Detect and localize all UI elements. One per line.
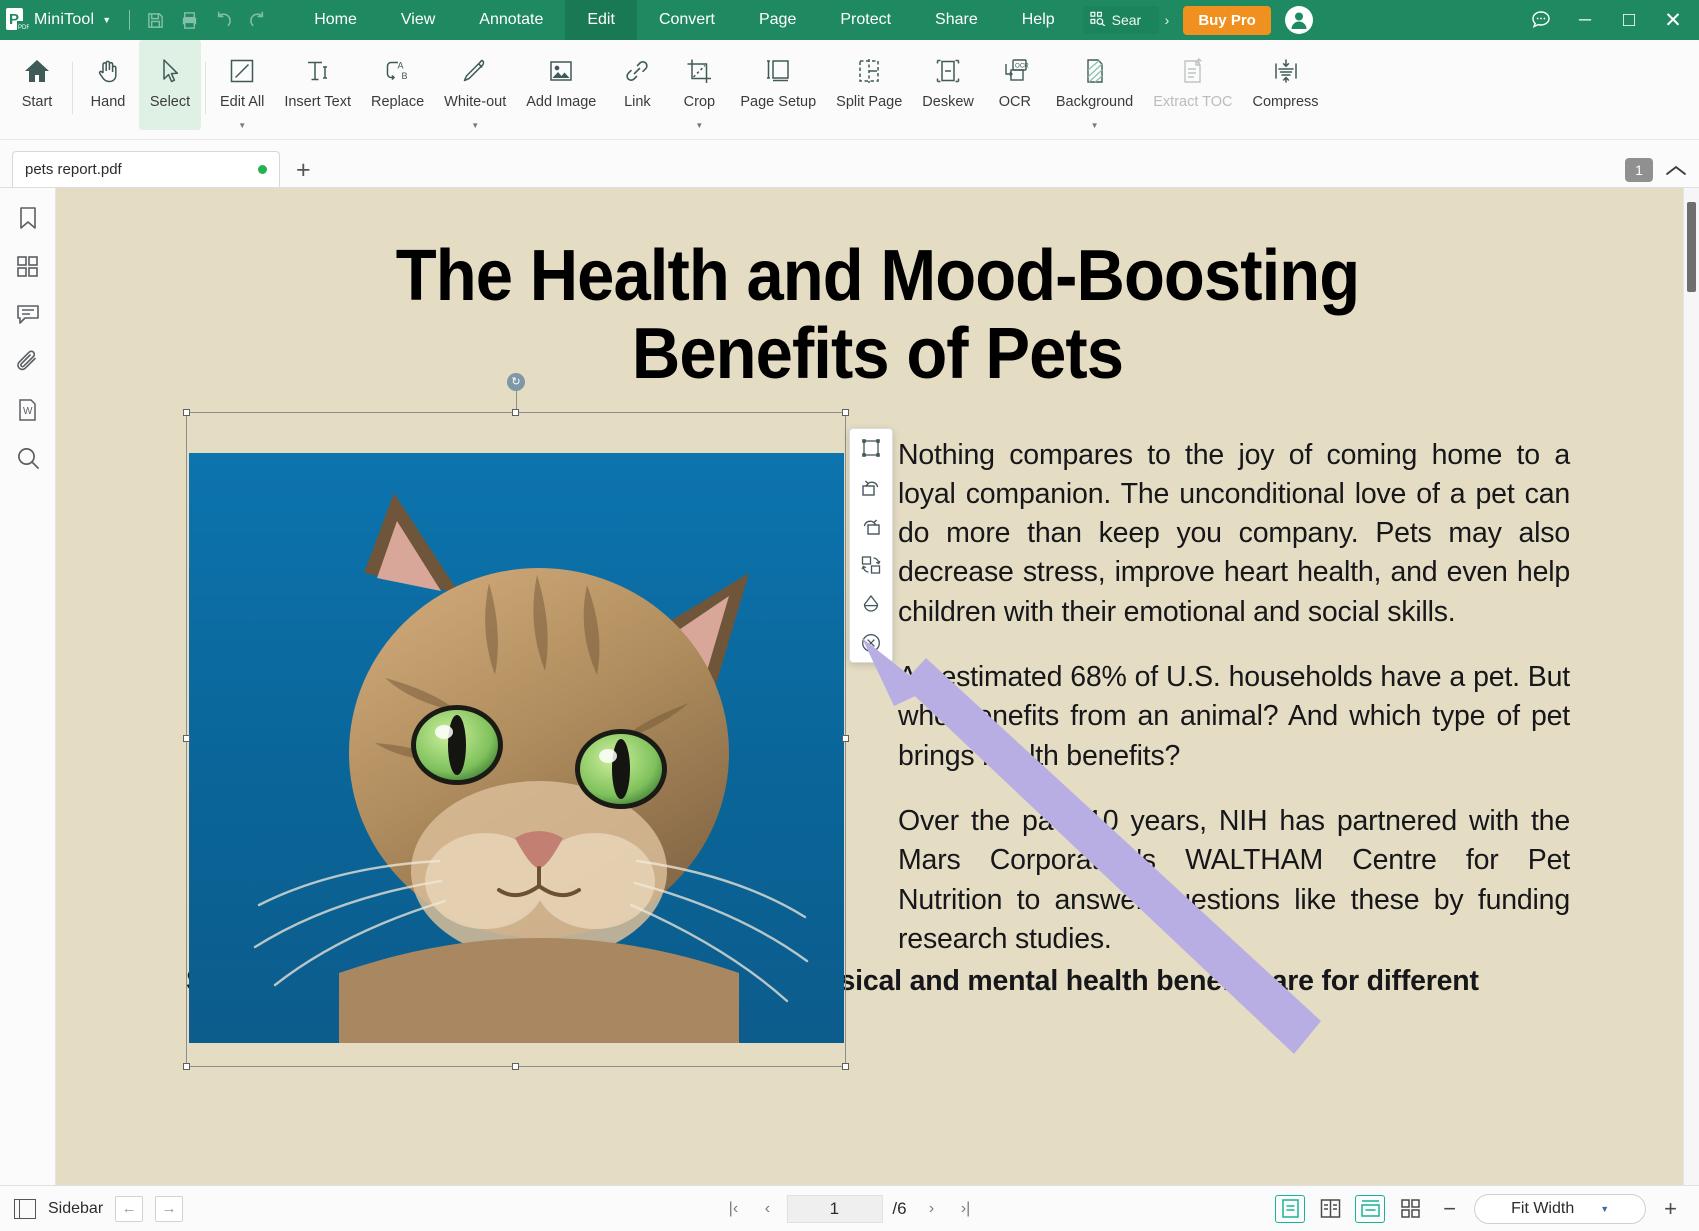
vertical-scrollbar[interactable] <box>1683 188 1699 1185</box>
page-setup-icon <box>763 52 793 90</box>
paragraph-2[interactable]: An estimated 68% of U.S. households have… <box>898 658 1570 776</box>
unsaved-indicator-icon <box>258 165 267 174</box>
grid-view-button[interactable] <box>1395 1195 1425 1223</box>
tool-start-label: Start <box>22 94 53 110</box>
ribbon-toolbar: Start Hand Select Edit All ▼ <box>0 40 1699 140</box>
svg-text:A: A <box>397 61 403 71</box>
nav-forward-button[interactable]: → <box>155 1196 183 1222</box>
app-logo-icon: P PDF <box>0 0 34 40</box>
chevron-down-icon[interactable]: ▼ <box>1600 1204 1609 1214</box>
pdf-viewport[interactable]: The Health and Mood-Boosting Benefits of… <box>56 188 1699 1185</box>
cat-photo[interactable] <box>189 453 844 1043</box>
left-rail: W <box>0 188 56 1185</box>
page-navigator: |‹ ‹ 1 /6 › ›| <box>718 1195 980 1223</box>
paragraph-3[interactable]: Over the past 10 years, NIH has partnere… <box>898 802 1570 959</box>
search-icon <box>1090 11 1107 29</box>
tool-select[interactable]: Select <box>139 40 201 130</box>
tool-white-out-label: White-out <box>444 94 506 110</box>
tool-compress-label: Compress <box>1252 94 1318 110</box>
resize-handle-ne[interactable] <box>842 409 849 416</box>
redo-icon[interactable] <box>240 0 274 40</box>
save-icon[interactable] <box>138 0 172 40</box>
zoom-out-button[interactable]: − <box>1435 1196 1464 1222</box>
tool-insert-text[interactable]: Insert Text <box>274 40 361 132</box>
first-page-button[interactable]: |‹ <box>718 1195 748 1223</box>
resize-handle-e[interactable] <box>842 735 849 742</box>
scrollbar-thumb[interactable] <box>1687 202 1696 292</box>
tool-ocr-label: OCR <box>999 94 1031 110</box>
tool-ocr[interactable]: OCR OCR <box>984 40 1046 132</box>
menu-item-page[interactable]: Page <box>737 0 818 40</box>
tool-replace[interactable]: A B Replace <box>361 40 434 132</box>
page-text-column[interactable]: Nothing compares to the joy of coming ho… <box>898 412 1570 960</box>
chevron-down-icon[interactable]: ▼ <box>1091 121 1099 130</box>
tool-add-image-label: Add Image <box>526 94 596 110</box>
single-page-view-button[interactable] <box>1275 1195 1305 1223</box>
insert-text-icon <box>303 52 333 90</box>
tool-background[interactable]: Background ▼ <box>1046 40 1143 132</box>
whiteout-icon <box>460 52 490 90</box>
total-pages-label: /6 <box>886 1199 912 1219</box>
image-context-toolbar <box>849 428 893 663</box>
svg-text:B: B <box>401 71 407 81</box>
tool-link[interactable]: Link <box>606 40 668 132</box>
document-tab-bar: pets report.pdf + 1 <box>0 140 1699 188</box>
link-icon <box>622 52 652 90</box>
opacity-icon[interactable] <box>856 591 886 617</box>
resize-handle-sw[interactable] <box>183 1063 190 1070</box>
resize-handle-s[interactable] <box>512 1063 519 1070</box>
page-number-input[interactable]: 1 <box>786 1195 882 1223</box>
undo-icon[interactable] <box>206 0 240 40</box>
hand-icon <box>93 52 123 90</box>
tool-crop[interactable]: Crop ▼ <box>668 40 730 132</box>
thumbnails-icon[interactable] <box>10 250 46 282</box>
replace-icon: A B <box>383 52 413 90</box>
edit-all-icon <box>227 52 257 90</box>
ocr-icon: OCR <box>1000 52 1030 90</box>
divider <box>129 10 130 30</box>
tool-background-label: Background <box>1056 94 1133 110</box>
status-bar: Sidebar ← → |‹ ‹ 1 /6 › ›| <box>0 1185 1699 1231</box>
sidebar-toggle-icon[interactable] <box>14 1199 36 1219</box>
main-menu: Home View Annotate Edit Convert Page Pro… <box>292 0 1076 40</box>
resize-handle-w[interactable] <box>183 735 190 742</box>
menu-item-view[interactable]: View <box>379 0 457 40</box>
status-bar-left: Sidebar ← → <box>14 1196 183 1222</box>
title-bar: P PDF MiniTool ▼ Home View Annotate Edit… <box>0 0 1699 40</box>
search-box[interactable]: Sear <box>1083 6 1159 34</box>
home-icon <box>22 52 52 90</box>
split-page-icon <box>854 52 884 90</box>
nav-back-button[interactable]: ← <box>115 1196 143 1222</box>
delete-icon[interactable] <box>856 630 886 656</box>
tool-hand[interactable]: Hand <box>77 40 139 132</box>
chevron-down-icon[interactable]: ▼ <box>471 121 479 130</box>
compress-icon <box>1271 52 1301 90</box>
tool-link-label: Link <box>624 94 651 110</box>
prev-page-button[interactable]: ‹ <box>752 1195 782 1223</box>
tool-deskew-label: Deskew <box>922 94 974 110</box>
tool-edit-all-label: Edit All <box>220 94 264 110</box>
tool-white-out[interactable]: White-out ▼ <box>434 40 516 132</box>
tool-split-page-label: Split Page <box>836 94 902 110</box>
word-icon[interactable]: W <box>10 394 46 426</box>
page-title[interactable]: The Health and Mood-Boosting Benefits of… <box>114 228 1642 394</box>
tool-split-page[interactable]: Split Page <box>826 40 912 132</box>
window-controls: ─ □ ✕ <box>1519 0 1699 40</box>
tab-bar-right-controls: 1 <box>1625 158 1687 182</box>
tool-deskew[interactable]: Deskew <box>912 40 984 132</box>
background-icon <box>1080 52 1110 90</box>
cursor-icon <box>155 52 185 90</box>
tool-hand-label: Hand <box>91 94 126 110</box>
menu-item-convert[interactable]: Convert <box>637 0 737 40</box>
tool-crop-label: Crop <box>684 94 715 110</box>
extract-toc-icon <box>1178 52 1208 90</box>
tool-replace-label: Replace <box>371 94 424 110</box>
tool-extract-toc[interactable]: Extract TOC <box>1143 40 1242 132</box>
chevron-down-icon[interactable]: ▼ <box>695 121 703 130</box>
menu-item-share[interactable]: Share <box>913 0 1000 40</box>
rotate-left-icon[interactable] <box>856 474 886 500</box>
attachment-icon[interactable] <box>10 346 46 378</box>
tool-page-setup[interactable]: Page Setup <box>730 40 826 132</box>
zoom-level-select[interactable]: Fit Width ▼ <box>1474 1194 1646 1224</box>
resize-handle-nw[interactable] <box>183 409 190 416</box>
zoom-in-button[interactable]: + <box>1656 1196 1685 1222</box>
page-count-badge[interactable]: 1 <box>1625 158 1653 182</box>
tool-extract-toc-label: Extract TOC <box>1153 94 1232 110</box>
divider <box>72 62 73 114</box>
deskew-icon <box>933 52 963 90</box>
add-image-icon <box>546 52 576 90</box>
resize-handle-n[interactable] <box>512 409 519 416</box>
menu-item-home[interactable]: Home <box>292 0 379 40</box>
tool-page-setup-label: Page Setup <box>740 94 816 110</box>
rotate-right-icon[interactable] <box>856 513 886 539</box>
tool-insert-text-label: Insert Text <box>284 94 351 110</box>
selected-image-container[interactable]: ↻ <box>186 412 846 960</box>
feedback-icon[interactable] <box>1519 0 1563 40</box>
buy-pro-button[interactable]: Buy Pro <box>1183 6 1271 35</box>
flip-icon[interactable] <box>856 552 886 578</box>
zoom-level-value: Fit Width <box>1511 1200 1574 1218</box>
maximize-button[interactable]: □ <box>1607 0 1651 40</box>
minimize-button[interactable]: ─ <box>1563 0 1607 40</box>
tool-add-image[interactable]: Add Image <box>516 40 606 132</box>
rotate-handle[interactable]: ↻ <box>507 373 525 391</box>
next-page-button[interactable]: › <box>917 1195 947 1223</box>
document-tab[interactable]: pets report.pdf <box>12 151 280 187</box>
brand-chevron-down-icon[interactable]: ▼ <box>100 15 121 25</box>
menu-item-help[interactable]: Help <box>1000 0 1077 40</box>
menu-item-protect[interactable]: Protect <box>818 0 913 40</box>
close-button[interactable]: ✕ <box>1651 0 1695 40</box>
last-page-button[interactable]: ›| <box>951 1195 981 1223</box>
new-tab-button[interactable]: + <box>280 158 325 187</box>
menu-item-edit[interactable]: Edit <box>565 0 637 40</box>
tool-compress[interactable]: Compress <box>1242 40 1328 132</box>
menu-item-annotate[interactable]: Annotate <box>457 0 565 40</box>
svg-text:OCR: OCR <box>1015 63 1029 70</box>
bookmark-icon[interactable] <box>10 202 46 234</box>
chevron-down-icon[interactable]: ▼ <box>238 121 246 130</box>
sidebar-label[interactable]: Sidebar <box>48 1200 103 1218</box>
search-icon[interactable] <box>10 442 46 474</box>
continuous-scroll-view-button[interactable] <box>1355 1195 1385 1223</box>
tool-edit-all[interactable]: Edit All ▼ <box>210 40 274 132</box>
tool-start[interactable]: Start <box>6 40 68 132</box>
svg-text:W: W <box>23 406 33 417</box>
collapse-ribbon-chevron-up-icon[interactable] <box>1665 160 1687 181</box>
document-tab-title: pets report.pdf <box>25 161 122 178</box>
svg-text:PDF: PDF <box>18 25 29 31</box>
status-bar-right: − Fit Width ▼ + <box>1275 1194 1685 1224</box>
paragraph-1[interactable]: Nothing compares to the joy of coming ho… <box>898 436 1570 633</box>
search-input[interactable]: Sear <box>1112 12 1142 28</box>
comment-icon[interactable] <box>10 298 46 330</box>
crop-icon <box>684 52 714 90</box>
expand-chevron-right-icon[interactable]: › <box>1159 12 1176 28</box>
app-brand-label: MiniTool <box>34 11 100 29</box>
divider <box>205 62 206 114</box>
resize-handle-se[interactable] <box>842 1063 849 1070</box>
avatar[interactable] <box>1285 6 1313 34</box>
main-area: W The Health and Mood-Boosting Benefits … <box>0 188 1699 1185</box>
print-icon[interactable] <box>172 0 206 40</box>
resize-icon[interactable] <box>856 435 886 461</box>
image-selection-box[interactable]: ↻ <box>186 412 846 1067</box>
tool-select-label: Select <box>150 94 190 110</box>
two-page-view-button[interactable] <box>1315 1195 1345 1223</box>
pdf-page[interactable]: The Health and Mood-Boosting Benefits of… <box>56 188 1699 1185</box>
page-body: ↻ <box>56 394 1699 960</box>
